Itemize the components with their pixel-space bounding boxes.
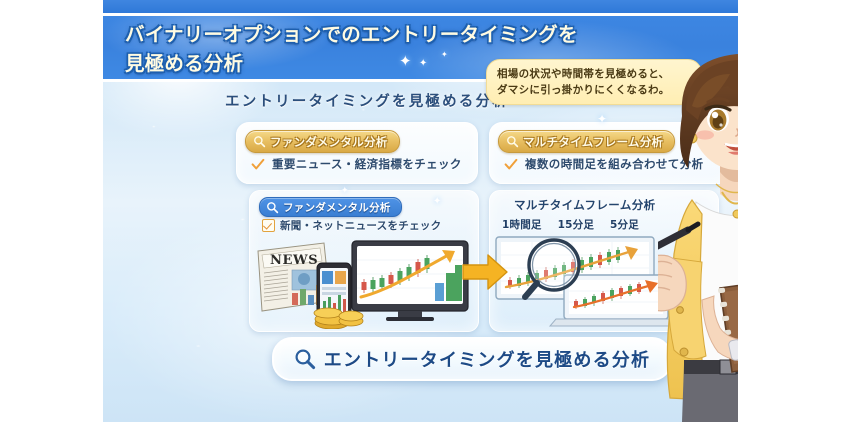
monitor-chart-graphic xyxy=(352,241,468,321)
timeframe-chip-row: 1時間足 15分足 5分足 xyxy=(502,217,639,232)
gold-coins-graphic xyxy=(314,308,363,329)
card-header-pill: ファンダメンタル分析 xyxy=(245,130,400,153)
card-fundamental-analysis[interactable]: ファンダメンタル分析 重要ニュース・経済指標をチェック xyxy=(236,122,478,184)
timeframe-chip-15m[interactable]: 15分足 xyxy=(558,217,594,232)
news-monitor-svg: NEWS xyxy=(254,235,474,329)
panel-header-label: マルチタイムフレーム分析 xyxy=(514,197,656,213)
check-icon xyxy=(504,158,518,171)
right-arrow-icon xyxy=(461,252,509,292)
panel-fundamental-analysis: ファンダメンタル分析 新聞・ネットニュースをチェック NEWS xyxy=(249,190,479,332)
panel-header-label: ファンダメンタル分析 xyxy=(283,200,391,215)
bottom-banner-label: エントリータイミングを見極める分析 xyxy=(324,346,650,372)
svg-text:NEWS: NEWS xyxy=(270,253,318,268)
screenshot-root: バイナリーオプションでのエントリータイミングを 見極める分析 ✦ ✦ ✦ エント… xyxy=(0,0,844,422)
bottom-summary-banner[interactable]: エントリータイミングを見極める分析 xyxy=(272,337,672,381)
magnifier-icon xyxy=(266,201,279,214)
illustration-news-monitor: NEWS xyxy=(254,235,474,329)
check-icon xyxy=(251,158,265,171)
infographic-artwork: バイナリーオプションでのエントリータイミングを 見極める分析 ✦ ✦ ✦ エント… xyxy=(103,0,738,422)
card-check-label: 重要ニュース・経済指標をチェック xyxy=(272,156,462,172)
timeframe-chip-5m[interactable]: 5分足 xyxy=(610,217,639,232)
panel-header-pill: ファンダメンタル分析 xyxy=(259,197,402,217)
section-subtitle: エントリータイミングを見極める分析 xyxy=(225,90,509,111)
card-check-row: 重要ニュース・経済指標をチェック xyxy=(251,156,462,172)
panel-check-label: 新聞・ネットニュースをチェック xyxy=(280,218,441,233)
magnifier-icon xyxy=(294,348,316,370)
card-header-label: ファンダメンタル分析 xyxy=(270,134,388,150)
card-header-label: マルチタイムフレーム分析 xyxy=(523,134,663,150)
magnifier-icon xyxy=(506,135,519,148)
panel-check-row: 新聞・ネットニュースをチェック xyxy=(262,218,441,233)
timeframe-chip-1h[interactable]: 1時間足 xyxy=(502,217,542,232)
card-header-pill: マルチタイムフレーム分析 xyxy=(498,130,675,153)
magnifier-icon xyxy=(253,135,266,148)
checkbox-icon xyxy=(262,219,275,232)
top-blue-strip xyxy=(103,0,738,13)
anime-woman-illustration xyxy=(658,34,738,422)
